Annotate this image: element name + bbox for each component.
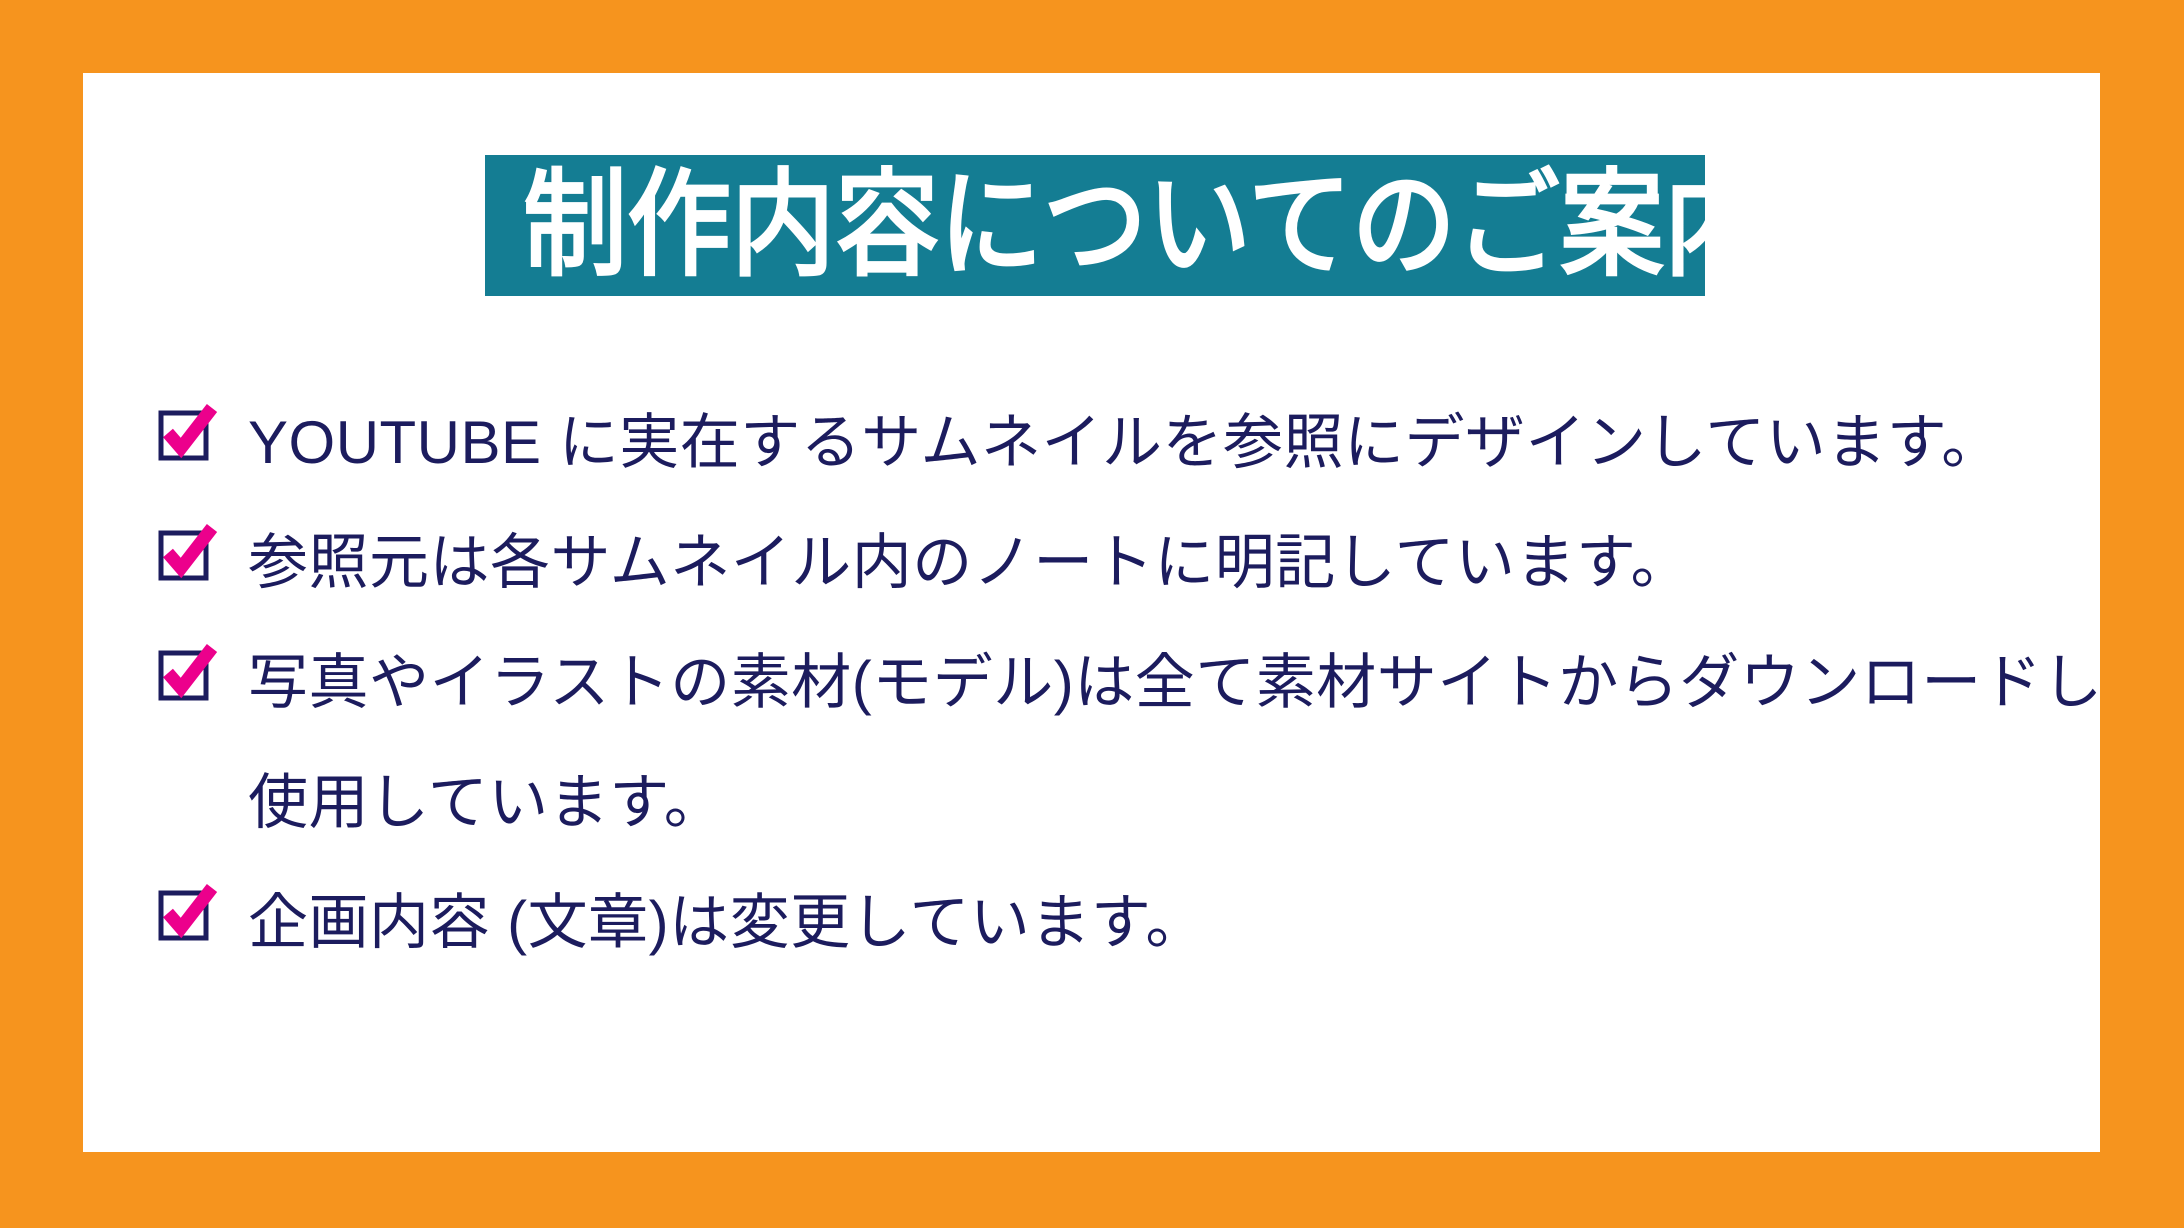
check-slot [158,503,248,581]
check-slot [158,863,248,941]
list-item: 写真やイラストの素材(モデル)は全て素材サイトからダウンロードし [158,623,2058,743]
list-item: 参照元は各サムネイル内のノートに明記しています。 [158,503,2058,623]
check-slot [158,383,248,461]
checked-checkbox-icon[interactable] [158,525,214,581]
list-item-text: 参照元は各サムネイル内のノートに明記しています。 [248,503,2058,623]
list-item-continuation: 使用しています。 [158,743,2058,863]
list-item-text: YOUTUBE に実在するサムネイルを参照にデザインしています。 [248,383,2058,503]
checked-checkbox-icon[interactable] [158,405,214,461]
slide-root: 制作内容についてのご案内 YOUTUBE に実在するサムネイルを参照にデザインし… [0,0,2184,1228]
list-item: 企画内容 (文章)は変更しています。 [158,863,2058,983]
content-panel: 制作内容についてのご案内 YOUTUBE に実在するサムネイルを参照にデザインし… [83,73,2100,1152]
title-banner: 制作内容についてのご案内 [485,155,1705,296]
checked-checkbox-icon[interactable] [158,885,214,941]
list-item: YOUTUBE に実在するサムネイルを参照にデザインしています。 [158,383,2058,503]
list-item-text: 写真やイラストの素材(モデル)は全て素材サイトからダウンロードし [248,623,2103,743]
page-title: 制作内容についてのご案内 [485,167,1705,283]
list-item-text-continued: 使用しています。 [248,743,2058,863]
bullet-list: YOUTUBE に実在するサムネイルを参照にデザインしています。 参照元は各サム… [158,383,2058,983]
list-item-text: 企画内容 (文章)は変更しています。 [248,863,2058,983]
checked-checkbox-icon[interactable] [158,645,214,701]
check-slot [158,623,248,701]
